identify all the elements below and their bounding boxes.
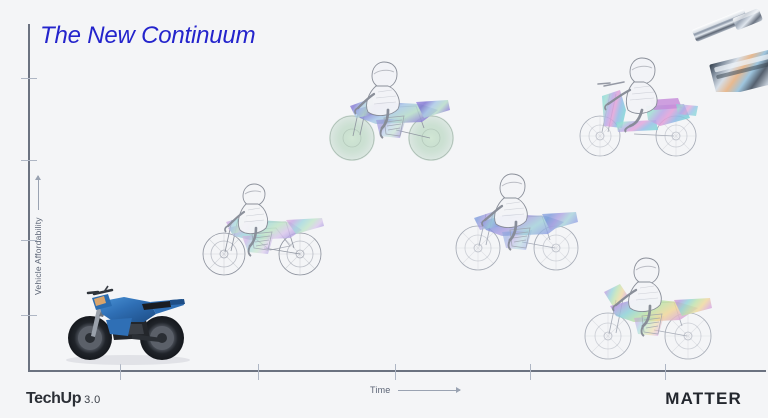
vehicle-adventure-sketch: [580, 248, 720, 368]
y-axis-tick: [21, 78, 37, 79]
x-axis-label: Time: [370, 385, 460, 395]
y-axis-label-text: Vehicle Affordability: [33, 217, 43, 295]
y-axis-label: Vehicle Affordability: [33, 115, 43, 295]
x-axis-tick: [395, 364, 396, 380]
vehicle-dirtbike-sketch: [326, 58, 458, 168]
vehicle-scooter-sketch: [572, 56, 704, 166]
x-axis-label-text: Time: [370, 385, 390, 395]
right-arrow-icon: [398, 390, 460, 391]
techup-logo-main: TechUp: [26, 390, 81, 408]
techup-logo-version: 3.0: [84, 394, 101, 406]
y-axis-line: [28, 24, 30, 372]
vehicle-aera-streetbike: [58, 272, 198, 367]
vehicle-trail-sketch: [452, 168, 584, 278]
page-title: The New Continuum: [40, 22, 255, 50]
techup-logo: TechUp 3.0: [26, 390, 101, 408]
x-axis-tick: [530, 364, 531, 380]
matter-brand-logo: MATTER: [665, 389, 742, 409]
x-axis-tick: [258, 364, 259, 380]
x-axis-line: [28, 370, 766, 372]
y-axis-tick: [21, 315, 37, 316]
vehicle-roadster-sketch: [198, 178, 330, 283]
slide-canvas: The New Continuum Vehicle Affordability …: [0, 0, 768, 418]
up-arrow-icon: [38, 176, 39, 210]
